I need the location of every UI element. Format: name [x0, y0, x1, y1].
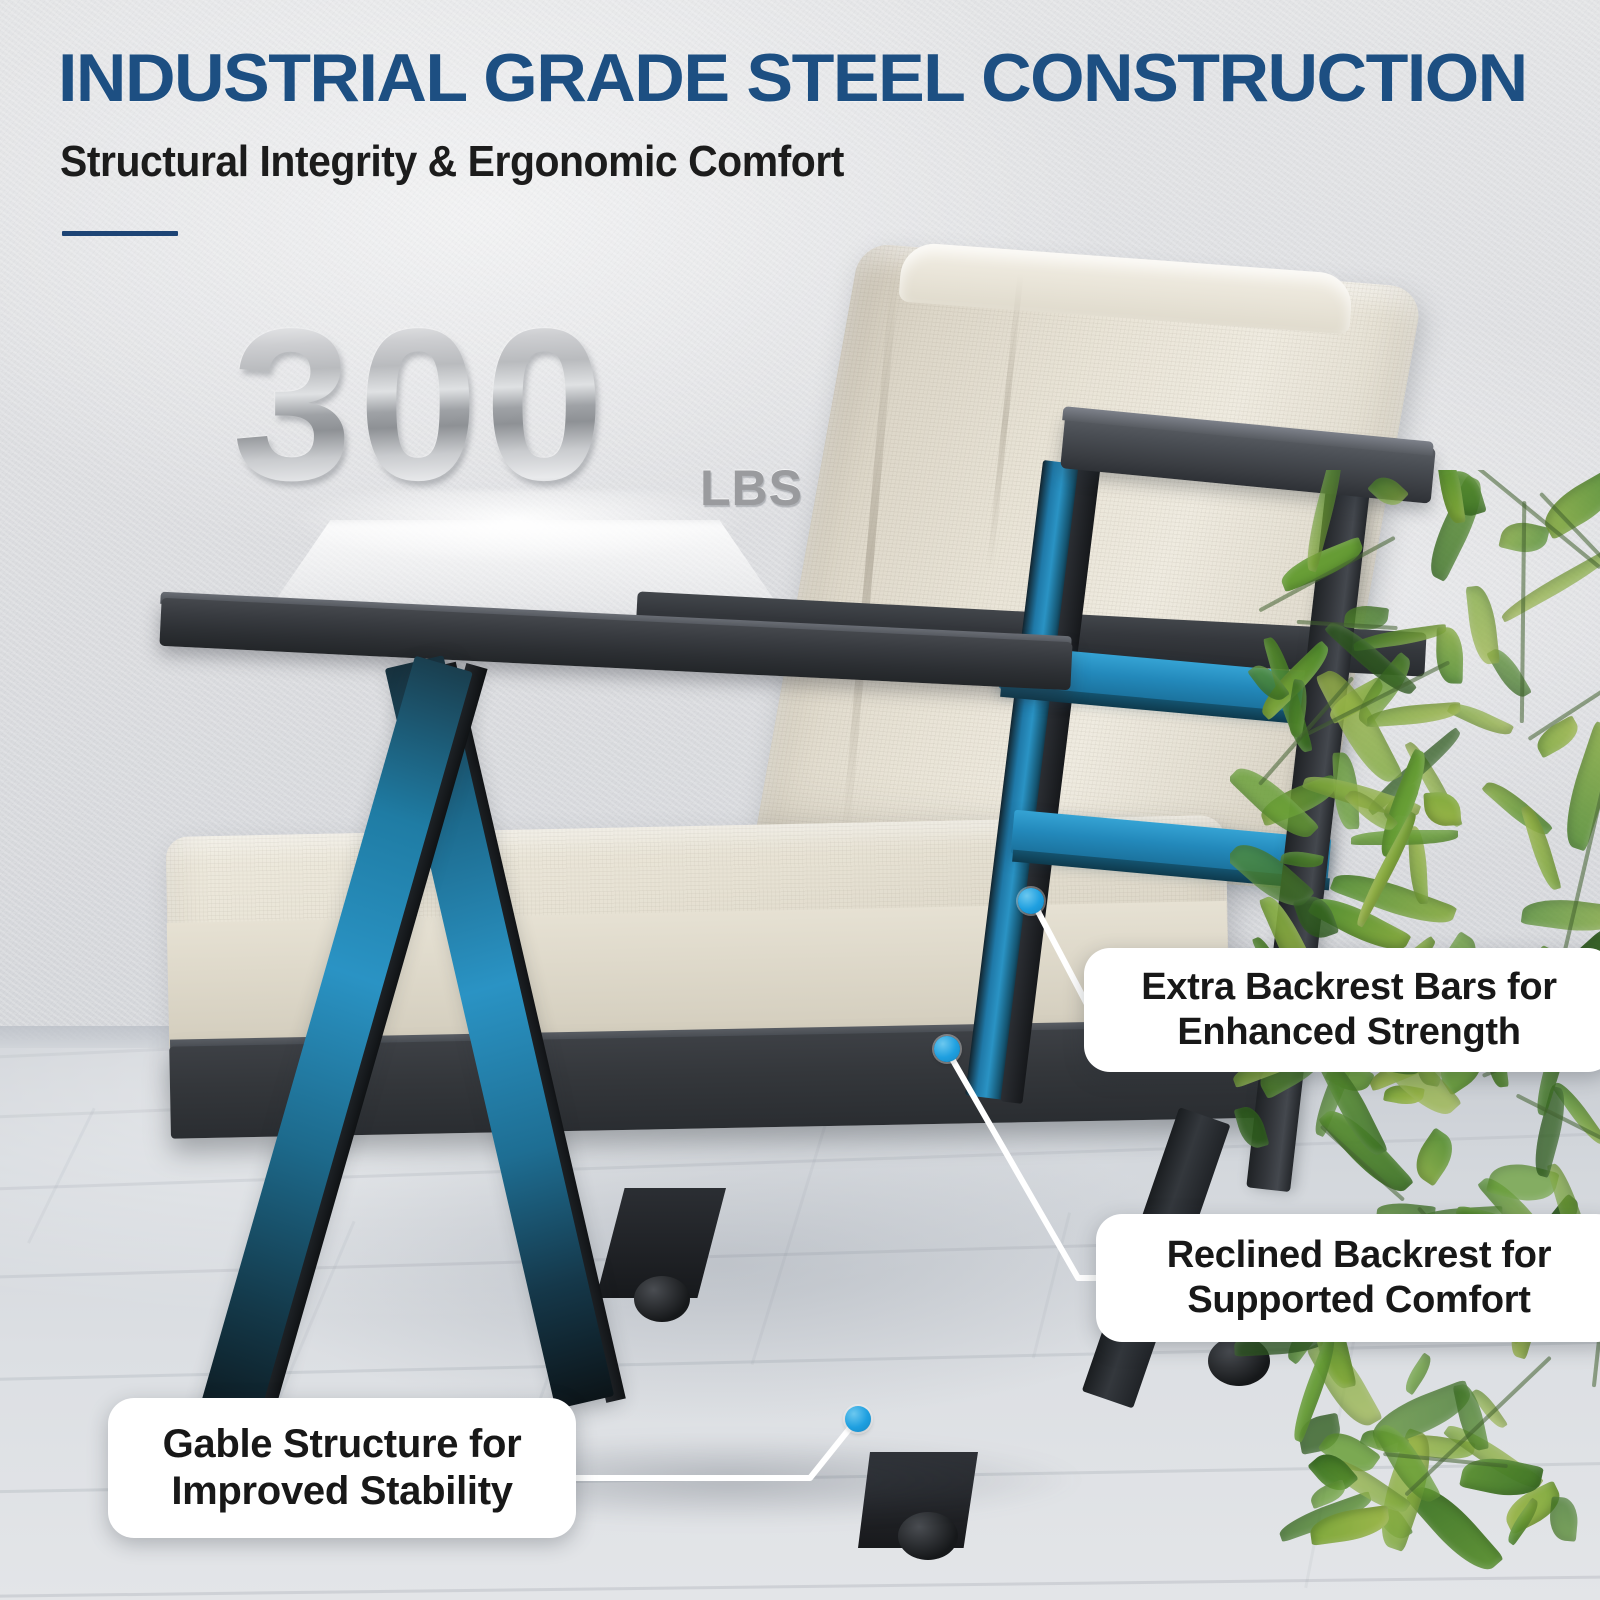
- callout-line-1: Gable Structure for: [163, 1422, 522, 1466]
- plant-leaf: [1423, 791, 1461, 827]
- plant-leaf: [1401, 1352, 1435, 1394]
- plant-leaf: [1367, 471, 1409, 512]
- callout-gable-structure[interactable]: Gable Structure for Improved Stability: [108, 1398, 576, 1538]
- callout-gable-text: Gable Structure for Improved Stability: [163, 1421, 522, 1515]
- callout-line-2: Enhanced Strength: [1177, 1011, 1520, 1053]
- infographic-canvas: 300 300 LBS: [0, 0, 1600, 1600]
- callout-reclined-text: Reclined Backrest for Supported Comfort: [1167, 1233, 1551, 1323]
- plant-leaf: [1233, 1103, 1269, 1151]
- callout-backrest-bars-text: Extra Backrest Bars for Enhanced Strengt…: [1141, 965, 1557, 1055]
- callout-dot-gable[interactable]: [845, 1406, 871, 1432]
- title-divider: [62, 231, 178, 236]
- callout-line-1: Reclined Backrest for: [1167, 1234, 1551, 1276]
- plant-leaf: [1521, 894, 1600, 937]
- callout-line-2: Supported Comfort: [1187, 1279, 1530, 1321]
- caster-wheel: [634, 1276, 690, 1322]
- plant-leaf: [1407, 1127, 1462, 1187]
- callout-dot-reclined[interactable]: [934, 1036, 960, 1062]
- callout-reclined-backrest[interactable]: Reclined Backrest for Supported Comfort: [1096, 1214, 1600, 1342]
- callout-backrest-bars[interactable]: Extra Backrest Bars for Enhanced Strengt…: [1084, 948, 1600, 1072]
- callout-dot-backrest-bars[interactable]: [1018, 888, 1044, 914]
- plant-stem: [1258, 536, 1396, 613]
- page-subtitle: Structural Integrity & Ergonomic Comfort: [60, 140, 844, 184]
- plant-leaf: [1548, 1497, 1580, 1543]
- plant-leaf: [1466, 585, 1500, 667]
- plant-leaf: [1497, 548, 1600, 623]
- callout-line-2: Improved Stability: [171, 1469, 512, 1513]
- page-title: INDUSTRIAL GRADE STEEL CONSTRUCTION: [58, 44, 1600, 112]
- callout-line-1: Extra Backrest Bars for: [1141, 966, 1557, 1008]
- plant-leaf: [1436, 627, 1464, 683]
